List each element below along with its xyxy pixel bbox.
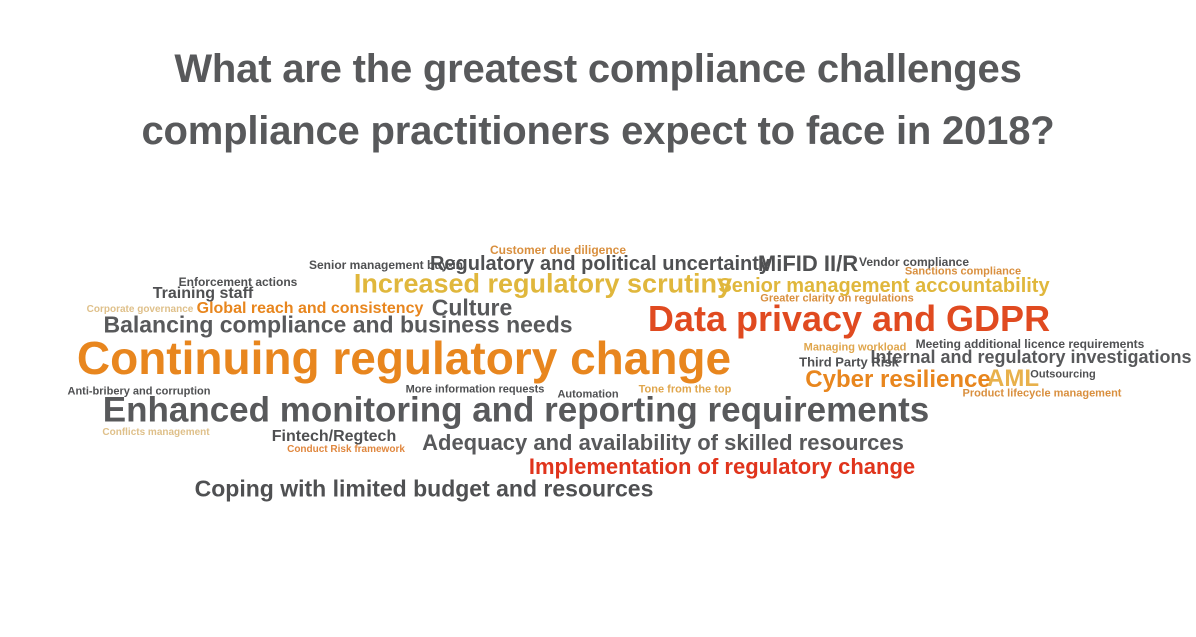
cloud-word: Senior management buy-in [309,259,463,271]
cloud-word: Outsourcing [1030,370,1095,381]
cloud-word: Implementation of regulatory change [529,456,915,478]
cloud-word: Conduct Risk framework [287,445,405,455]
cloud-word: Managing workload [804,343,907,354]
cloud-word: Fintech/Regtech [272,429,396,445]
cloud-word: Anti-bribery and corruption [68,387,211,398]
cloud-word: MiFID II/R [758,253,858,275]
cloud-word: Coping with limited budget and resources [195,478,654,501]
page-title-line-1: What are the greatest compliance challen… [0,38,1196,100]
cloud-word: Customer due diligence [490,244,626,256]
cloud-word: Enforcement actions [179,276,298,288]
cloud-word: Tone from the top [639,385,732,396]
cloud-word: Regulatory and political uncertainty [430,254,770,274]
cloud-word: Sanctions compliance [905,267,1021,278]
cloud-word: More information requests [406,385,545,396]
cloud-word: Corporate governance [87,305,194,315]
cloud-word: Product lifecycle management [963,389,1122,400]
cloud-word: Adequacy and availability of skilled res… [422,432,904,454]
cloud-word: Data privacy and GDPR [648,301,1050,337]
cloud-word: Global reach and consistency [197,301,424,317]
cloud-word: Continuing regulatory change [77,335,731,381]
word-cloud: Continuing regulatory changeEnhanced mon… [0,222,1196,522]
wordcloud-page: What are the greatest compliance challen… [0,0,1196,637]
cloud-word: Automation [557,390,618,401]
cloud-word: Third Party Risk [799,356,899,369]
cloud-word: Meeting additional licence requirements [916,338,1145,350]
cloud-word: Conflicts management [102,428,209,438]
cloud-word: Greater clarity on regulations [760,294,913,305]
cloud-word: Culture [432,297,513,320]
cloud-word: Enhanced monitoring and reporting requir… [103,393,929,428]
page-title-line-2: compliance practitioners expect to face … [0,100,1196,162]
page-title: What are the greatest compliance challen… [0,38,1196,162]
